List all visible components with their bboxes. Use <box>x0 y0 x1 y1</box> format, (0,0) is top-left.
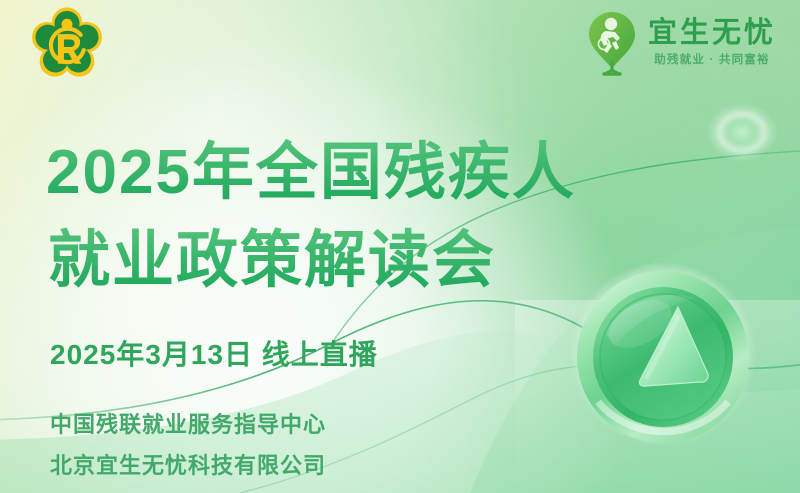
poster-canvas: 宜生无忧 助残就业 · 共同富裕 2025年全国残疾人 就业政策解读会 2025… <box>0 0 800 493</box>
organizer-line: 中国残联就业服务指导中心 <box>50 407 326 439</box>
title-line-2: 就业政策解读会 <box>46 217 576 305</box>
play-button-icon[interactable] <box>568 262 758 452</box>
decorative-bubble <box>706 96 778 162</box>
poster-title: 2025年全国残疾人 就业政策解读会 <box>46 129 576 305</box>
organizer-list: 中国残联就业服务指导中心 北京宜生无忧科技有限公司 <box>50 407 326 480</box>
event-dateline: 2025年3月13日 线上直播 <box>50 333 378 373</box>
location-pin-runner-icon <box>586 10 638 76</box>
brand-lockup: 宜生无忧 助残就业 · 共同富裕 <box>586 10 776 76</box>
brand-slogan: 助残就业 · 共同富裕 <box>654 55 769 67</box>
brand-name: 宜生无忧 <box>648 19 776 48</box>
title-line-1: 2025年全国残疾人 <box>46 129 576 217</box>
organizer-line: 北京宜生无忧科技有限公司 <box>50 448 326 480</box>
cdpf-plum-blossom-logo-icon <box>28 6 106 82</box>
